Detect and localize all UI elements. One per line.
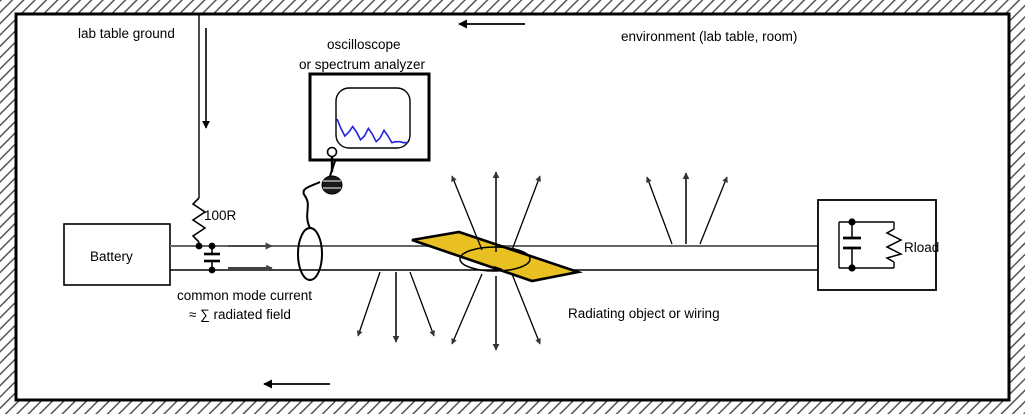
label-radiating-object: Radiating object or wiring xyxy=(568,306,720,321)
diagram-canvas: lab table ground oscilloscope or spectru… xyxy=(0,0,1025,414)
label-common-mode-line1: common mode current xyxy=(177,288,312,303)
label-common-mode-line2: ≈ ∑ radiated field xyxy=(189,307,291,322)
oscilloscope xyxy=(310,74,429,172)
label-oscilloscope-line1: oscilloscope xyxy=(327,37,401,52)
label-oscilloscope-line2: or spectrum analyzer xyxy=(299,57,426,72)
label-environment: environment (lab table, room) xyxy=(621,29,797,44)
label-battery: Battery xyxy=(90,249,133,264)
label-resistor-100r: 100R xyxy=(204,208,237,223)
emc-test-setup-diagram: lab table ground oscilloscope or spectru… xyxy=(0,0,1025,414)
label-lab-table-ground: lab table ground xyxy=(78,26,175,41)
label-rload: Rload xyxy=(904,240,939,255)
